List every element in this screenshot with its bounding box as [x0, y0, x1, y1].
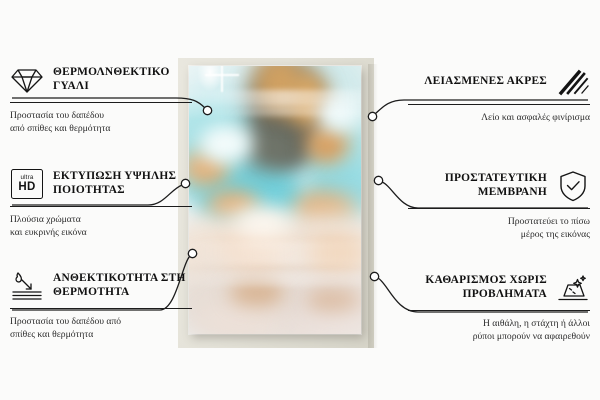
feature-description: Προστατεύει το πίσω μέρος της εικόνας — [408, 215, 590, 241]
feature-divider — [408, 208, 590, 209]
feature-description: Η αιθάλη, η στάχτη ή άλλοι ρύποι μπορούν… — [408, 317, 590, 343]
diamond-gem-icon — [10, 63, 44, 97]
infographic-canvas: ΘΕΡΜΟΛΝΘΕΚΤΙΚΟ ΓΥΑΛΙ Προστασία του δαπέδ… — [0, 0, 600, 400]
feature-description: Λείο και ασφαλές φινίρισμα — [408, 111, 590, 124]
feature-title: ΠΡΟΣΤΑΤΕΥΤΙΚΗ ΜΕΜΒΡΑΝΗ — [408, 172, 547, 200]
feature-block-heat-durability: ΑΝΘΕΚΤΙΚΟΤΗΤΑ ΣΤΗ ΘΕΡΜΟΤΗΤΑ Προστασία το… — [10, 268, 192, 341]
shield-check-icon — [556, 169, 590, 203]
feature-block-high-quality-print: ultra HD ΕΚΤΥΠΩΣΗ ΥΨΗΛΗΣ ΠΟΙΟΤΗΤΑΣ Πλούσ… — [10, 166, 192, 239]
feature-header: ΑΝΘΕΚΤΙΚΟΤΗΤΑ ΣΤΗ ΘΕΡΜΟΤΗΤΑ — [10, 268, 192, 304]
feature-description: Προστασία του δαπέδου από σπίθες και θερ… — [10, 109, 192, 135]
feature-header: ultra HD ΕΚΤΥΠΩΣΗ ΥΨΗΛΗΣ ΠΟΙΟΤΗΤΑΣ — [10, 166, 192, 202]
feature-divider — [10, 206, 192, 207]
feature-block-polished-edges: ΛΕΙΑΣΜΕΝΕΣ ΑΚΡΕΣ Λείο και ασφαλές φινίρι… — [408, 64, 590, 124]
ultra-hd-badge-top: ultra — [20, 175, 33, 181]
feature-header: ΚΑΘΑΡΙΣΜΟΣ ΧΩΡΙΣ ΠΡΟΒΛΗΜΑΤΑ — [408, 270, 590, 306]
ultra-hd-badge-icon: ultra HD — [10, 167, 44, 201]
polished-edges-icon — [556, 65, 590, 99]
feature-title: ΑΝΘΕΚΤΙΚΟΤΗΤΑ ΣΤΗ ΘΕΡΜΟΤΗΤΑ — [53, 272, 192, 300]
feature-title: ΕΚΤΥΠΩΣΗ ΥΨΗΛΗΣ ΠΟΙΟΤΗΤΑΣ — [53, 170, 192, 198]
feature-description: Προστασία του δαπέδου από σπίθες και θερ… — [10, 315, 192, 341]
feature-header: ΘΕΡΜΟΛΝΘΕΚΤΙΚΟ ΓΥΑΛΙ — [10, 62, 192, 98]
feature-title: ΘΕΡΜΟΛΝΘΕΚΤΙΚΟ ΓΥΑΛΙ — [53, 66, 192, 94]
feature-block-heat-resistant-glass: ΘΕΡΜΟΛΝΘΕΚΤΙΚΟ ΓΥΑΛΙ Προστασία του δαπέδ… — [10, 62, 192, 135]
sponge-sparkle-icon — [556, 271, 590, 305]
feature-block-protective-membrane: ΠΡΟΣΤΑΤΕΥΤΙΚΗ ΜΕΜΒΡΑΝΗ Προστατεύει το πί… — [408, 168, 590, 241]
feature-header: ΠΡΟΣΤΑΤΕΥΤΙΚΗ ΜΕΜΒΡΑΝΗ — [408, 168, 590, 204]
feature-title: ΚΑΘΑΡΙΣΜΟΣ ΧΩΡΙΣ ΠΡΟΒΛΗΜΑΤΑ — [408, 274, 547, 302]
feature-description: Πλούσια χρώματα και ευκρινής εικόνα — [10, 213, 192, 239]
feature-title: ΛΕΙΑΣΜΕΝΕΣ ΑΚΡΕΣ — [424, 75, 547, 89]
feature-divider — [408, 104, 590, 105]
feature-block-easy-cleaning: ΚΑΘΑΡΙΣΜΟΣ ΧΩΡΙΣ ΠΡΟΒΛΗΜΑΤΑ Η αιθάλη, η … — [408, 270, 590, 343]
feature-divider — [408, 310, 590, 311]
flame-deflect-icon — [10, 269, 44, 303]
feature-header: ΛΕΙΑΣΜΕΝΕΣ ΑΚΡΕΣ — [408, 64, 590, 100]
feature-divider — [10, 308, 192, 309]
feature-divider — [10, 102, 192, 103]
ultra-hd-badge-bottom: HD — [18, 182, 35, 194]
